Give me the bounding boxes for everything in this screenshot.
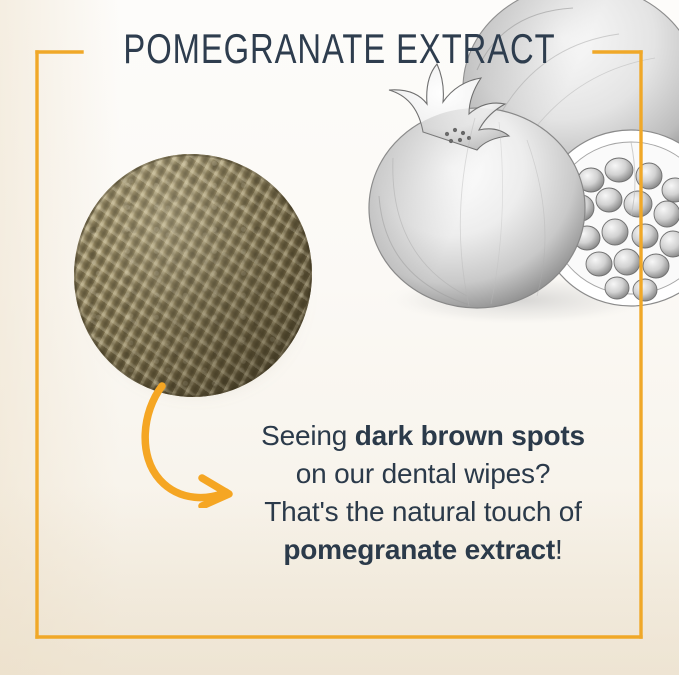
body-line-3: That's the natural touch of — [232, 493, 614, 531]
body-line-1: Seeing dark brown spots — [232, 417, 614, 455]
dental-wipe-disc — [74, 154, 312, 397]
illustration-shadow — [379, 274, 659, 326]
body-line-1-bold: dark brown spots — [355, 420, 585, 451]
body-copy: Seeing dark brown spots on our dental wi… — [232, 417, 614, 569]
pomegranate-half — [539, 130, 679, 306]
pomegranate-crown — [389, 64, 509, 150]
body-line-4-tail: ! — [555, 534, 563, 565]
pomegranate-front — [369, 64, 585, 308]
body-line-4-bold: pomegranate extract — [283, 534, 555, 565]
wipe-surface — [74, 154, 312, 397]
body-line-2: on our dental wipes? — [232, 455, 614, 493]
page-title: POMEGRANATE EXTRACT — [75, 24, 605, 74]
body-line-4: pomegranate extract! — [232, 531, 614, 569]
body-line-1-plain: Seeing — [261, 420, 355, 451]
wipe-rim — [74, 154, 312, 397]
pomegranate-extract-poster: POMEGRANATE EXTRACT Seeing dark brown sp… — [0, 0, 679, 675]
